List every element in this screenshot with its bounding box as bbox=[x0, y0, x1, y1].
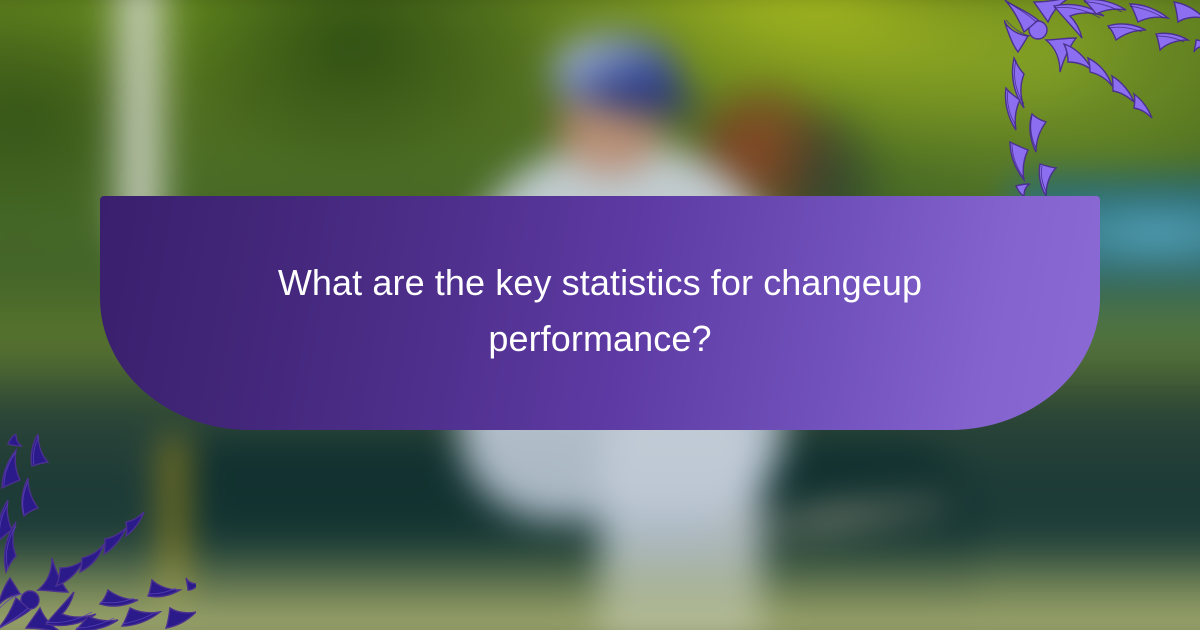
page-title: What are the key statistics for changeup… bbox=[250, 255, 950, 367]
headline-banner: What are the key statistics for changeup… bbox=[100, 196, 1100, 430]
headline-container: What are the key statistics for changeup… bbox=[100, 196, 1100, 430]
social-card-canvas: What are the key statistics for changeup… bbox=[0, 0, 1200, 630]
background-infield-dirt bbox=[0, 536, 1200, 630]
